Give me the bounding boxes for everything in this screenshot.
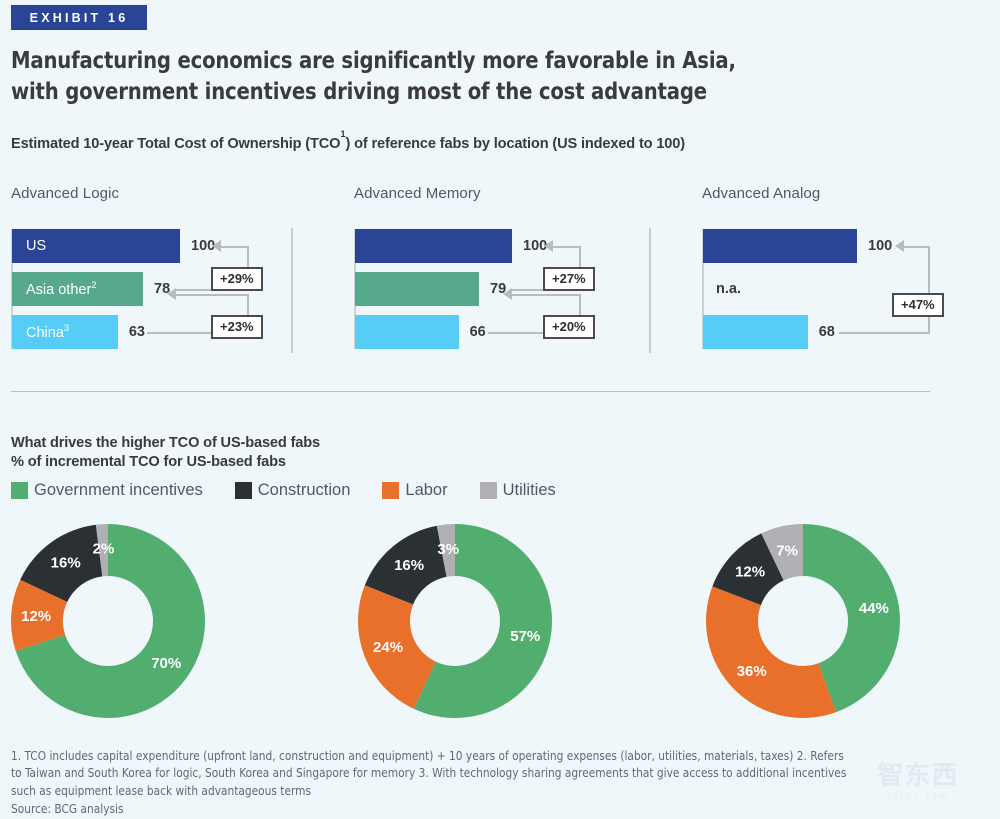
donut-slice-label: 12%	[735, 564, 765, 581]
donut-chart-memory: 57%24%16%3%	[347, 512, 567, 730]
donut-slice-label: 36%	[737, 663, 767, 680]
source-line: Source: BCG analysis	[11, 801, 937, 818]
arrow-icon	[895, 240, 904, 252]
donut-slice-label: 16%	[394, 557, 424, 574]
donut-slice-label: 57%	[510, 628, 540, 645]
drivers-heading-line-1: What drives the higher TCO of US-based f…	[11, 434, 320, 453]
headline-line-2: with government incentives driving most …	[11, 76, 904, 107]
legend-swatch-icon	[480, 482, 497, 499]
donut-slice-label: 12%	[21, 608, 51, 625]
footnotes: 1. TCO includes capital expenditure (upf…	[11, 748, 937, 819]
legend-item-construction[interactable]: Construction	[235, 481, 351, 500]
donut-slice-label: 16%	[51, 554, 81, 571]
delta-callout: +29%	[211, 267, 263, 291]
bar-row-2	[703, 315, 808, 349]
bar-label-text: US	[26, 238, 46, 254]
bar-label-footnote-marker: 2	[91, 280, 96, 291]
delta-callout: +23%	[211, 315, 263, 339]
bar-value: 68	[819, 324, 835, 340]
bar-value-na: n.a.	[716, 281, 741, 297]
panel-separator	[649, 228, 651, 353]
arrow-icon	[503, 288, 512, 300]
bar-row-0	[355, 229, 512, 263]
bar-value: 100	[868, 238, 892, 254]
page-title: Manufacturing economics are significantl…	[11, 45, 904, 108]
connector-line	[512, 294, 579, 296]
legend-item-labor[interactable]: Labor	[382, 481, 447, 500]
footnote-line-1: 1. TCO includes capital expenditure (upf…	[11, 748, 937, 765]
donut-legend: Government incentivesConstructionLaborUt…	[11, 481, 588, 500]
donut-slice-label: 7%	[776, 542, 798, 559]
drivers-heading: What drives the higher TCO of US-based f…	[11, 434, 320, 473]
legend-item-utilities[interactable]: Utilities	[480, 481, 556, 500]
subheading-pre: Estimated 10-year Total Cost of Ownershi…	[11, 136, 340, 152]
donut-slice-label: 2%	[93, 541, 115, 558]
drivers-heading-line-2: % of incremental TCO for US-based fabs	[11, 453, 320, 472]
connector-line	[221, 246, 247, 248]
bar-row-1	[355, 272, 479, 306]
delta-callout: +20%	[543, 315, 595, 339]
bar-label-text: China	[26, 325, 64, 341]
connector-line	[928, 246, 930, 332]
footnote-line-3: such as equipment lease back with advant…	[11, 783, 937, 800]
bar-asia-other: Asia other2	[12, 272, 143, 306]
bar-label: China3	[26, 323, 69, 341]
exhibit-badge: EXHIBIT 16	[11, 5, 147, 30]
donut-slice-label: 70%	[151, 655, 181, 672]
donut-slice-label: 24%	[373, 639, 403, 656]
legend-label: Labor	[405, 481, 447, 500]
subheading-footnote-marker: 1	[340, 129, 345, 140]
legend-item-government-incentives[interactable]: Government incentives	[11, 481, 203, 500]
headline-line-1: Manufacturing economics are significantl…	[11, 46, 736, 74]
donut-chart-logic: 70%12%16%2%	[0, 512, 220, 730]
bar-us: US	[12, 229, 180, 263]
connector-line	[839, 332, 930, 334]
bar-panel-advanced-memory: Advanced Memory1007966+27%+20%	[354, 185, 481, 229]
legend-label: Utilities	[503, 481, 556, 500]
section-divider	[11, 391, 930, 392]
delta-callout: +47%	[892, 293, 944, 317]
legend-swatch-icon	[382, 482, 399, 499]
subheading: Estimated 10-year Total Cost of Ownershi…	[11, 134, 685, 152]
subheading-post: ) of reference fabs by location (US inde…	[346, 136, 685, 152]
panel-title: Advanced Analog	[702, 185, 820, 202]
legend-label: Government incentives	[34, 481, 203, 500]
bar-label-text: Asia other	[26, 282, 91, 298]
footnote-line-2: to Taiwan and South Korea for logic, Sou…	[11, 765, 937, 782]
arrow-icon	[167, 288, 176, 300]
panel-separator	[291, 228, 293, 353]
bar-row-0	[703, 229, 857, 263]
legend-label: Construction	[258, 481, 351, 500]
bar-value: 63	[129, 324, 145, 340]
connector-line	[553, 246, 579, 248]
legend-swatch-icon	[11, 482, 28, 499]
connector-line	[904, 246, 930, 248]
legend-swatch-icon	[235, 482, 252, 499]
connector-line	[176, 294, 247, 296]
bar-china: China3	[12, 315, 118, 349]
donut-slice-label: 44%	[859, 600, 889, 617]
bar-panel-advanced-analog: Advanced Analog100n.a.68+47%	[702, 185, 820, 229]
delta-callout: +27%	[543, 267, 595, 291]
donut-charts-group: 70%12%16%2%57%24%16%3%44%36%12%7%	[0, 512, 1000, 732]
bar-panel-advanced-logic: Advanced LogicUS100Asia other278China363…	[11, 185, 119, 229]
bar-row-2	[355, 315, 459, 349]
arrow-icon	[212, 240, 221, 252]
arrow-icon	[544, 240, 553, 252]
donut-slice-label: 3%	[437, 541, 459, 558]
bar-value: 66	[470, 324, 486, 340]
bar-label: US	[26, 238, 46, 254]
panel-title: Advanced Memory	[354, 185, 481, 202]
panel-title: Advanced Logic	[11, 185, 119, 202]
bar-label-footnote-marker: 3	[64, 323, 69, 334]
donut-slice[interactable]	[706, 586, 836, 718]
bar-label: Asia other2	[26, 280, 97, 298]
donut-chart-analog: 44%36%12%7%	[695, 512, 915, 730]
